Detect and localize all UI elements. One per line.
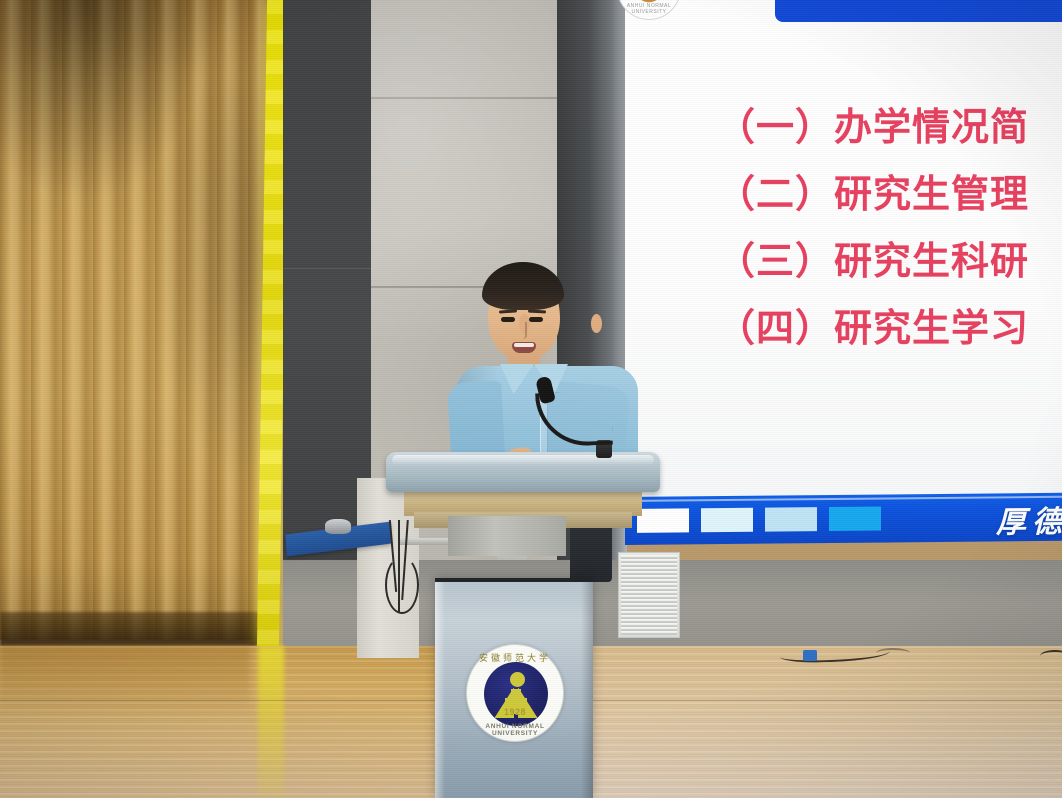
cable-connector (803, 650, 817, 661)
slide-outline-item: （一）办学情况简 (717, 108, 1062, 146)
podium-desktop (386, 452, 660, 492)
band-square (765, 507, 817, 531)
speaker-eye-left (501, 317, 515, 322)
slide-outline-item: （三）研究生科研 (717, 242, 1062, 280)
slide-outline-item: （四）研究生学习 (717, 309, 1062, 347)
stage-curtain (0, 0, 272, 640)
podium-body: 安徽师范大学 1928 ANHUI NORMAL UNIVERSITY (435, 578, 593, 798)
floor-cable-segment (876, 648, 910, 658)
floor-reflection-curtain (0, 646, 250, 716)
floor-cable-right (1040, 650, 1062, 662)
sign-mounted-device (325, 519, 351, 534)
band-square (829, 507, 881, 531)
slide-motto-text: 厚德 (996, 497, 1062, 542)
slide-outline-list: （一）办学情况简 （二）研究生管理 （三）研究生科研 （四）研究生学习 (717, 108, 1062, 376)
slide-title-banner (775, 0, 1062, 22)
wire-loop (385, 556, 419, 614)
band-square (701, 508, 753, 532)
lecture-hall-photo: 1928 ANHUI NORMAL UNIVERSITY （一）办学情况简 （二… (0, 0, 1062, 798)
speaker-nose (518, 322, 527, 339)
slide-bottom-band: 厚德 (625, 493, 1062, 545)
speaker-eye-right (529, 317, 543, 322)
university-emblem: 安徽师范大学 1928 ANHUI NORMAL UNIVERSITY (466, 644, 564, 742)
speaker-hair (482, 262, 564, 310)
emblem-english-name: ANHUI NORMAL UNIVERSITY (467, 723, 563, 737)
band-square (637, 508, 689, 532)
floor-reflection-light-strip (258, 646, 284, 796)
slide-seal-icon: 1928 ANHUI NORMAL UNIVERSITY (617, 0, 681, 20)
emblem-figure-head (510, 672, 525, 687)
speaker-ear-right (591, 314, 602, 333)
wall-vent-grille (618, 552, 680, 638)
slide-outline-item: （二）研究生管理 (717, 175, 1062, 213)
emblem-year: 1928 (467, 707, 563, 717)
curtain-hem (0, 612, 272, 646)
podium-neck (448, 516, 566, 556)
speaker-mouth (512, 342, 536, 353)
projection-screen: 1928 ANHUI NORMAL UNIVERSITY （一）办学情况简 （二… (625, 0, 1062, 497)
slide-seal-arc-text: ANHUI NORMAL UNIVERSITY (618, 3, 680, 15)
emblem-figure-crossbar (505, 698, 527, 703)
